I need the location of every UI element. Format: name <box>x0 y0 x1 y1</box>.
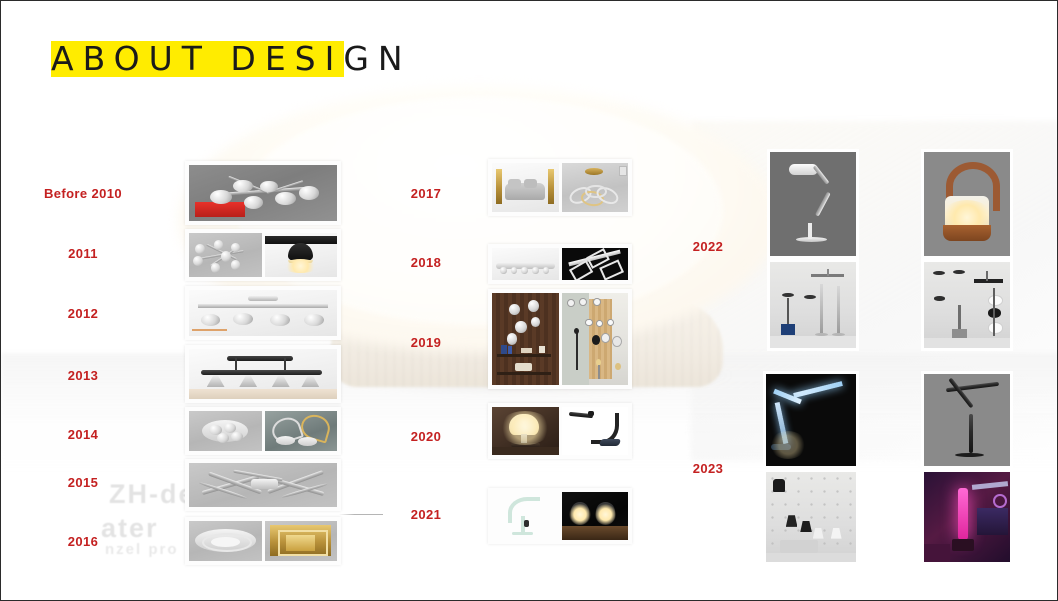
thumbnail-card-2023-rgb-light[interactable] <box>921 469 1013 565</box>
photo-showroom-wood-wall-display <box>492 293 559 385</box>
thumbnail-card-2011[interactable] <box>185 229 341 281</box>
year-label-2013: 2013 <box>37 368 129 383</box>
thumbnail-card-2022-showroom-gray[interactable] <box>921 259 1013 351</box>
thumbnail-card-2023-pegboard[interactable] <box>763 469 859 565</box>
photo-portable-cordless-lanterns <box>562 492 629 540</box>
year-label-2022: 2022 <box>665 239 751 254</box>
page-title: ABOUT DESIGN <box>51 39 412 79</box>
photo-chrome-cross-arm-fixture <box>189 463 337 507</box>
year-label-2014: 2014 <box>37 427 129 442</box>
photo-gold-wall-lamps-with-sofa <box>492 163 559 212</box>
year-label-2017: 2017 <box>383 186 469 201</box>
photo-black-dome-pendant <box>265 233 338 277</box>
thumbnail-card-2022-lantern[interactable] <box>921 149 1013 259</box>
photo-gold-silver-swirl-chandelier <box>265 411 338 451</box>
year-label-2011: 2011 <box>37 246 129 261</box>
connector-line-2021 <box>339 514 383 515</box>
photo-petal-ring-chandelier <box>562 163 629 212</box>
slide-canvas: ZH-de ater nzel pro ABOUT DESIGN Before … <box>0 0 1058 601</box>
year-label-2018: 2018 <box>383 255 469 270</box>
year-label-2012: 2012 <box>37 306 129 321</box>
thumbnail-card-2012[interactable] <box>185 286 341 340</box>
thumbnail-card-2016[interactable] <box>185 517 341 565</box>
thumbnail-card-2019[interactable] <box>488 289 632 389</box>
photo-oval-flush-ceiling-plate <box>189 521 262 561</box>
thumbnail-card-2022-showroom-blue[interactable] <box>767 259 859 351</box>
photo-track-spotlight-bar <box>189 290 337 336</box>
photo-rgb-gaming-tube-light <box>924 472 1010 562</box>
photo-showroom-pegboard-lamp-display <box>766 472 856 562</box>
year-label-before-2010: Before 2010 <box>23 186 143 201</box>
year-label-2015: 2015 <box>37 475 129 490</box>
photo-linear-multi-head-bar-light <box>492 248 559 280</box>
thumbnail-card-2014[interactable] <box>185 407 341 455</box>
thumbnail-card-2021[interactable] <box>488 488 632 544</box>
thumbnail-card-2020[interactable] <box>488 403 632 459</box>
photo-chrome-star-spot-fixture <box>189 233 262 277</box>
title-text: ABOUT DESIGN <box>51 39 412 79</box>
photo-black-slim-desk-lamp <box>924 374 1010 466</box>
year-label-2021: 2021 <box>383 507 469 522</box>
thumbnail-card-2017[interactable] <box>488 159 632 216</box>
photo-wood-handle-portable-lantern <box>924 152 1010 256</box>
thumbnail-card-2023-black-lamp[interactable] <box>921 371 1013 469</box>
thumbnail-card-2018[interactable] <box>488 244 632 284</box>
photo-illuminated-arm-lamp-on-black <box>766 374 856 466</box>
thumbnail-card-2015[interactable] <box>185 459 341 511</box>
photo-showroom-lamp-wall-display <box>562 293 629 385</box>
thumbnail-card-2022-desk-lamp[interactable] <box>767 149 859 259</box>
photo-chrome-multi-spot-ceiling-light <box>189 165 337 221</box>
photo-linear-pendant-four-cone <box>189 349 337 399</box>
year-label-2020: 2020 <box>383 429 469 444</box>
year-label-2016: 2016 <box>37 534 129 549</box>
thumbnail-card-2023-lit-lamp[interactable] <box>763 371 859 469</box>
photo-showroom-floor-lamp-display-blue <box>770 262 856 348</box>
thumbnail-card-before-2010[interactable] <box>185 161 341 225</box>
photo-round-crystal-ceiling-light <box>189 411 262 451</box>
year-label-2023: 2023 <box>665 461 751 476</box>
photo-mint-gooseneck-desk-lamp <box>492 492 559 540</box>
photo-geometric-frame-chandelier <box>562 248 629 280</box>
photo-white-articulated-desk-lamp <box>770 152 856 256</box>
photo-gold-square-panel-light <box>265 521 338 561</box>
photo-black-arc-desk-lamp <box>562 407 629 455</box>
year-label-2019: 2019 <box>383 335 469 350</box>
thumbnail-card-2013[interactable] <box>185 345 341 403</box>
photo-warm-dome-table-lamp <box>492 407 559 455</box>
photo-showroom-floor-lamp-display-gray <box>924 262 1010 348</box>
